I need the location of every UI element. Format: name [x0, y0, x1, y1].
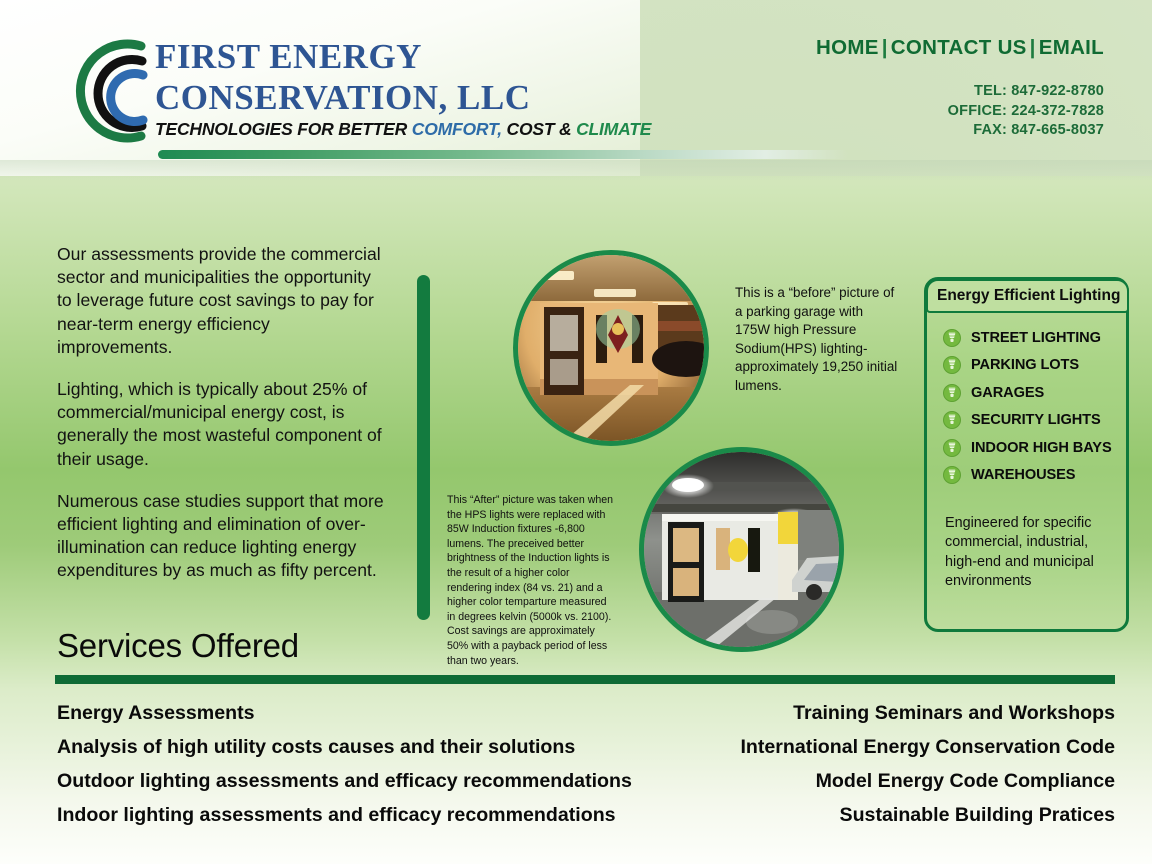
page-root: FIRST ENERGY CONSERVATION, LLC TECHNOLOG…: [0, 0, 1152, 864]
three-nested-arcs-icon: [45, 28, 160, 153]
list-item[interactable]: GARAGES: [927, 379, 1126, 407]
cfl-bulb-icon: [943, 439, 961, 457]
before-photo-caption: This is a “before” picture of a parking …: [735, 284, 900, 396]
list-item-label: STREET LIGHTING: [971, 330, 1101, 346]
parking-garage-before-photo: [513, 250, 709, 446]
contact-details: TEL: 847-922-8780 OFFICE: 224-372-7828 F…: [948, 82, 1104, 141]
page-title: Services Offered: [57, 627, 299, 665]
list-item-label: GARAGES: [971, 385, 1044, 401]
tagline-comfort: COMFORT,: [412, 119, 502, 139]
intro-paragraph-3: Numerous case studies support that more …: [57, 490, 387, 583]
list-item-label: SECURITY LIGHTS: [971, 412, 1101, 428]
list-item[interactable]: SECURITY LIGHTS: [927, 407, 1126, 435]
header-shadow: [0, 160, 1152, 182]
company-name-line2: CONSERVATION, LLC: [155, 77, 531, 118]
list-item[interactable]: PARKING LOTS: [927, 352, 1126, 380]
vertical-divider-bar: [417, 275, 430, 620]
tagline-part-1: TECHNOLOGIES FOR BETTER: [155, 119, 412, 139]
panel-footer-text: Engineered for specific commercial, indu…: [945, 514, 1110, 592]
after-photo-inner: [644, 452, 839, 647]
company-logo: [45, 28, 160, 153]
tagline-part-2: COST &: [502, 119, 576, 139]
cfl-bulb-icon: [943, 329, 961, 347]
list-item-label: PARKING LOTS: [971, 357, 1079, 373]
intro-paragraph-1: Our assessments provide the commercial s…: [57, 243, 387, 359]
contact-tel: TEL: 847-922-8780: [948, 82, 1104, 102]
cfl-bulb-icon: [943, 384, 961, 402]
list-item-label: WAREHOUSES: [971, 467, 1075, 483]
intro-paragraph-2: Lighting, which is typically about 25% o…: [57, 378, 387, 471]
header-gradient-rule: [158, 150, 848, 159]
services-right-column: Training Seminars and Workshops Internat…: [515, 696, 1115, 832]
company-tagline: TECHNOLOGIES FOR BETTER COMFORT, COST & …: [155, 119, 651, 140]
list-item-label: INDOOR HIGH BAYS: [971, 440, 1112, 456]
list-item[interactable]: WAREHOUSES: [927, 462, 1126, 490]
cfl-bulb-icon: [943, 411, 961, 429]
company-name: FIRST ENERGY CONSERVATION, LLC: [155, 36, 531, 118]
panel-title: Energy Efficient Lighting: [926, 279, 1129, 313]
after-photo-image: [644, 452, 839, 647]
nav-item-home[interactable]: HOME: [816, 36, 879, 59]
service-item: Model Energy Code Compliance: [515, 764, 1115, 798]
before-photo-inner: [518, 255, 704, 441]
nav-item-email[interactable]: EMAIL: [1039, 36, 1104, 59]
nav-item-contact-us[interactable]: CONTACT US: [891, 36, 1027, 59]
cfl-bulb-icon: [943, 466, 961, 484]
company-name-line1: FIRST ENERGY: [155, 36, 531, 77]
services-divider: [55, 675, 1115, 684]
service-item: Sustainable Building Pratices: [515, 798, 1115, 832]
nav-separator-2: |: [1027, 36, 1039, 59]
top-navigation: HOME|CONTACT US|EMAIL: [816, 36, 1104, 60]
contact-office: OFFICE: 224-372-7828: [948, 102, 1104, 122]
contact-fax: FAX: 847-665-8037: [948, 121, 1104, 141]
after-photo-caption: This “After” picture was taken when the …: [447, 493, 617, 668]
energy-efficient-lighting-panel: Energy Efficient Lighting STREET LIGHTIN…: [924, 277, 1129, 632]
intro-text-column: Our assessments provide the commercial s…: [57, 243, 387, 602]
list-item[interactable]: INDOOR HIGH BAYS: [927, 434, 1126, 462]
cfl-bulb-icon: [943, 356, 961, 374]
nav-separator-1: |: [879, 36, 891, 59]
parking-garage-after-photo: [639, 447, 844, 652]
before-photo-image: [518, 255, 704, 441]
tagline-climate: CLIMATE: [576, 119, 651, 139]
service-item: Training Seminars and Workshops: [515, 696, 1115, 730]
lighting-application-list: STREET LIGHTING PARKING LOTS GARAGES SEC…: [927, 324, 1126, 489]
service-item: International Energy Conservation Code: [515, 730, 1115, 764]
list-item[interactable]: STREET LIGHTING: [927, 324, 1126, 352]
